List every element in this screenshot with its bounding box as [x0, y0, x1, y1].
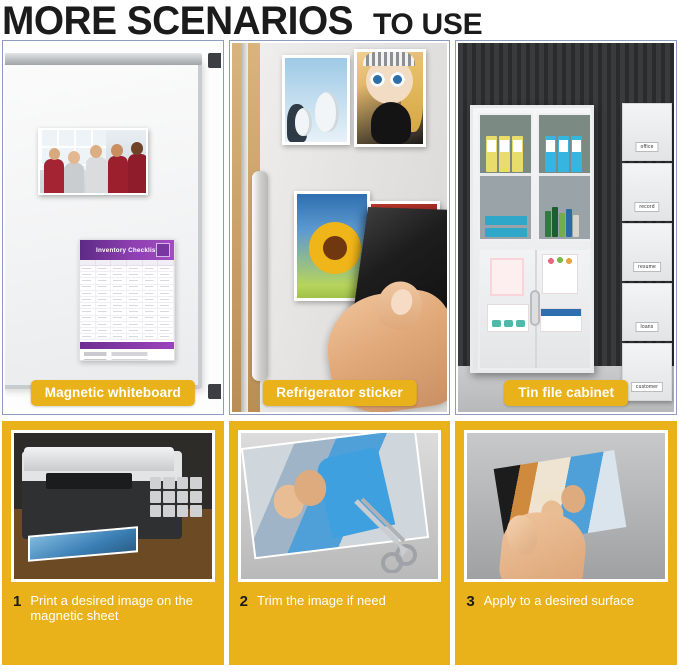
step-1: 1 Print a desired image on the magnetic … [2, 421, 224, 665]
inventory-checklist-document: Inventory Checklist [79, 239, 175, 361]
drawer-office: office [622, 103, 672, 161]
scissors-icon [352, 497, 422, 573]
drawer-customer: customer [622, 343, 672, 401]
step-3-caption: 3 Apply to a desired surface [464, 582, 668, 611]
scenario-panel-magnetic-whiteboard: Inventory Checklist [2, 40, 224, 415]
whiteboard-corner-bottom-right [208, 384, 221, 399]
magnet-note-chart [487, 304, 529, 332]
drawer-label: resume [633, 262, 661, 272]
magnet-note-blue [540, 308, 582, 332]
document-title: Inventory Checklist [96, 247, 158, 254]
step-3-image [464, 430, 668, 582]
scenario-label-magnetic-whiteboard: Magnetic whiteboard [31, 380, 195, 406]
document-table-body [80, 266, 174, 340]
scenario-panel-refrigerator-sticker: Refrigerator sticker [229, 40, 451, 415]
step-text: Trim the image if need [257, 594, 386, 609]
cabinet-handle [530, 290, 540, 326]
drawer-label: loans [636, 322, 659, 332]
headline-main: MORE SCENARIOS [2, 3, 353, 40]
document-header: Inventory Checklist [80, 240, 174, 260]
page-title: MORE SCENARIOS TO USE [0, 0, 679, 40]
glass-pane-left [478, 113, 533, 241]
step-number: 3 [466, 594, 474, 611]
whiteboard-team-photo [38, 128, 148, 195]
magnet-note-pink [490, 258, 524, 296]
photo-doll [354, 49, 426, 147]
whiteboard-scene: Inventory Checklist [5, 43, 221, 412]
scenario-label-tin-file-cabinet: Tin file cabinet [504, 380, 628, 406]
step-number: 1 [13, 594, 21, 611]
whiteboard-top-rail [5, 53, 202, 65]
drawer-loans: loans [622, 283, 672, 341]
table-row [80, 334, 174, 340]
printer-keypad [150, 477, 202, 517]
cabinet-lower-doors [478, 248, 592, 370]
file-cabinet [470, 105, 594, 373]
step-2: 2 Trim the image if need [229, 421, 451, 665]
drawer-label: customer [631, 382, 663, 392]
printer-lid [24, 447, 174, 471]
step-1-caption: 1 Print a desired image on the magnetic … [11, 582, 215, 624]
scenario-panel-tin-file-cabinet: office record resume loans customer [455, 40, 677, 415]
document-footer-fields [80, 349, 174, 361]
glass-pane-right [537, 113, 592, 241]
printer-paper-slot [46, 473, 132, 489]
step-3: 3 Apply to a desired surface [455, 421, 677, 665]
step-2-image [238, 430, 442, 582]
refrigerator-scene [232, 43, 448, 412]
scenario-label-refrigerator-sticker: Refrigerator sticker [262, 380, 417, 406]
document-subheader [80, 342, 174, 349]
step-number: 2 [240, 594, 248, 611]
scenario-row: Inventory Checklist [0, 40, 679, 415]
whiteboard-corner-top-right [208, 53, 221, 68]
cabinet-glass-doors [478, 113, 592, 241]
drawer-resume: resume [622, 223, 672, 281]
step-2-caption: 2 Trim the image if need [238, 582, 442, 611]
drawer-label: office [635, 142, 658, 152]
magnet-note-floral [542, 254, 578, 294]
cabinet-drawer-stack: office record resume loans customer [622, 103, 672, 403]
infographic-page: MORE SCENARIOS TO USE [0, 0, 679, 672]
document-logo [156, 243, 170, 257]
step-text: Print a desired image on the magnetic sh… [30, 594, 212, 624]
steps-row: 1 Print a desired image on the magnetic … [0, 415, 679, 665]
refrigerator-door-seam [241, 43, 248, 412]
drawer-record: record [622, 163, 672, 221]
step-text: Apply to a desired surface [484, 594, 634, 609]
headline-sub: TO USE [373, 11, 482, 40]
photo-penguins [282, 55, 350, 145]
refrigerator-handle [252, 171, 268, 381]
step-1-image [11, 430, 215, 582]
cabinet-scene: office record resume loans customer [458, 43, 674, 412]
drawer-label: record [634, 202, 659, 212]
